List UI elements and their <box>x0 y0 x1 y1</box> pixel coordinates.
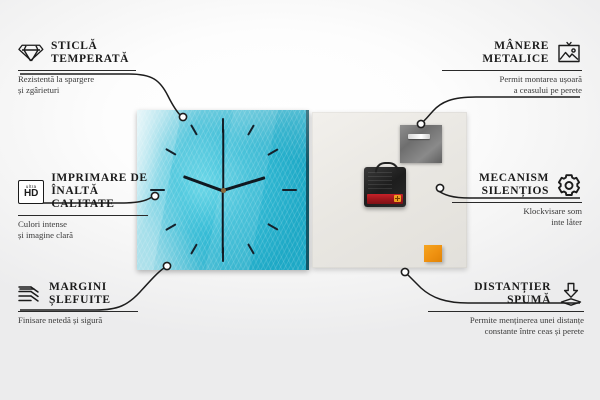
clock-tick <box>190 243 197 254</box>
clock-second-hand <box>222 191 224 254</box>
product-photo <box>137 110 467 270</box>
clock-tick <box>267 148 278 155</box>
callout-sub-line2: și imagine clară <box>18 230 158 241</box>
callout-divider <box>18 311 138 312</box>
callout-title-line2: ȘLEFUITE <box>49 294 111 307</box>
foam-spacer <box>424 245 442 262</box>
callout-foam-spacer: DISTANȚIER SPUMĂ Permite menținerea unei… <box>418 281 584 337</box>
callout-metal-handles: MÂNERE METALICE Permit montarea ușoară a… <box>432 40 582 96</box>
callout-divider <box>442 70 582 71</box>
hanger-slot <box>408 134 430 139</box>
callout-title-line1: DISTANȚIER <box>474 281 551 294</box>
clock-tick <box>247 243 254 254</box>
callout-sub-line1: Culori intense <box>18 219 158 230</box>
clock-second-hand-upper <box>222 129 224 191</box>
callout-title-line1: STICLĂ <box>51 40 129 53</box>
callout-header: MÂNERE METALICE <box>432 40 582 66</box>
callout-sub-line1: Klockvisare som <box>442 206 582 217</box>
callout-header: DISTANȚIER SPUMĂ <box>418 281 584 307</box>
down-arrow-spacer-icon <box>558 282 584 307</box>
callout-sub-line1: Permite menținerea unei distanțe <box>418 315 584 326</box>
callout-sub-line1: Rezistentă la spargere <box>18 74 148 85</box>
callout-header: ultra HD IMPRIMARE DE ÎNALTĂ CALITATE <box>18 172 158 211</box>
callout-title-line2: SPUMĂ <box>474 294 551 307</box>
callout-sub-line2: a ceasului pe perete <box>432 85 582 96</box>
clock-tick <box>282 189 297 191</box>
clock-tick <box>165 148 176 155</box>
callout-silent-mechanism: MECANISM SILENȚIOS Klockvisare som inte … <box>442 172 582 228</box>
callout-title-line1: IMPRIMARE DE <box>51 172 158 185</box>
callout-sub-line2: constante între ceas și perete <box>418 326 584 337</box>
callout-divider <box>452 202 582 203</box>
clock-center-hub <box>221 188 226 193</box>
clock-minute-hand <box>183 175 224 193</box>
clock-tick <box>267 223 278 230</box>
callout-sub-line1: Permit montarea ușoară <box>432 74 582 85</box>
callout-title-line2: SILENȚIOS <box>479 185 549 198</box>
callout-header: MARGINI ȘLEFUITE <box>18 281 148 307</box>
clock-mechanism <box>364 167 406 207</box>
battery <box>367 194 403 204</box>
callout-title-line2: METALICE <box>482 53 549 66</box>
callout-title-line1: MECANISM <box>479 172 549 185</box>
callout-title-line2: ÎNALTĂ CALITATE <box>51 185 158 211</box>
callout-polished-edges: MARGINI ȘLEFUITE Finisare netedă și sigu… <box>18 281 148 326</box>
callout-divider <box>428 311 584 312</box>
clock-hour-hand <box>223 176 266 192</box>
callout-hd-print: ultra HD IMPRIMARE DE ÎNALTĂ CALITATE Cu… <box>18 172 158 241</box>
diagonal-lines-icon <box>18 283 42 305</box>
diamond-icon <box>18 42 44 64</box>
picture-frame-hanger-icon <box>556 41 582 65</box>
callout-tempered-glass: STICLĂ TEMPERATĂ Rezistentă la spargere … <box>18 40 148 96</box>
metal-hanger <box>400 125 442 163</box>
callout-header: MECANISM SILENȚIOS <box>442 172 582 198</box>
clock-tick <box>190 124 197 135</box>
callout-divider <box>18 70 136 71</box>
clock-tick <box>247 124 254 135</box>
callout-header: STICLĂ TEMPERATĂ <box>18 40 148 66</box>
infographic-canvas: STICLĂ TEMPERATĂ Rezistentă la spargere … <box>0 0 600 400</box>
callout-title-line2: TEMPERATĂ <box>51 53 129 66</box>
ultra-hd-badge-icon: ultra HD <box>18 180 44 204</box>
battery-plus-icon <box>394 195 401 202</box>
hd-badge-hd-label: HD <box>24 189 38 199</box>
callout-title-line1: MARGINI <box>49 281 111 294</box>
clock-tick <box>165 223 176 230</box>
mechanism-texture <box>368 172 392 192</box>
gear-icon <box>556 173 582 198</box>
callout-sub-line2: inte låter <box>442 217 582 228</box>
callout-title-line1: MÂNERE <box>482 40 549 53</box>
callout-sub-line1: Finisare netedă și sigură <box>18 315 148 326</box>
clock-face <box>137 110 309 270</box>
callout-sub-line2: și zgârieturi <box>18 85 148 96</box>
callout-divider <box>18 215 148 216</box>
